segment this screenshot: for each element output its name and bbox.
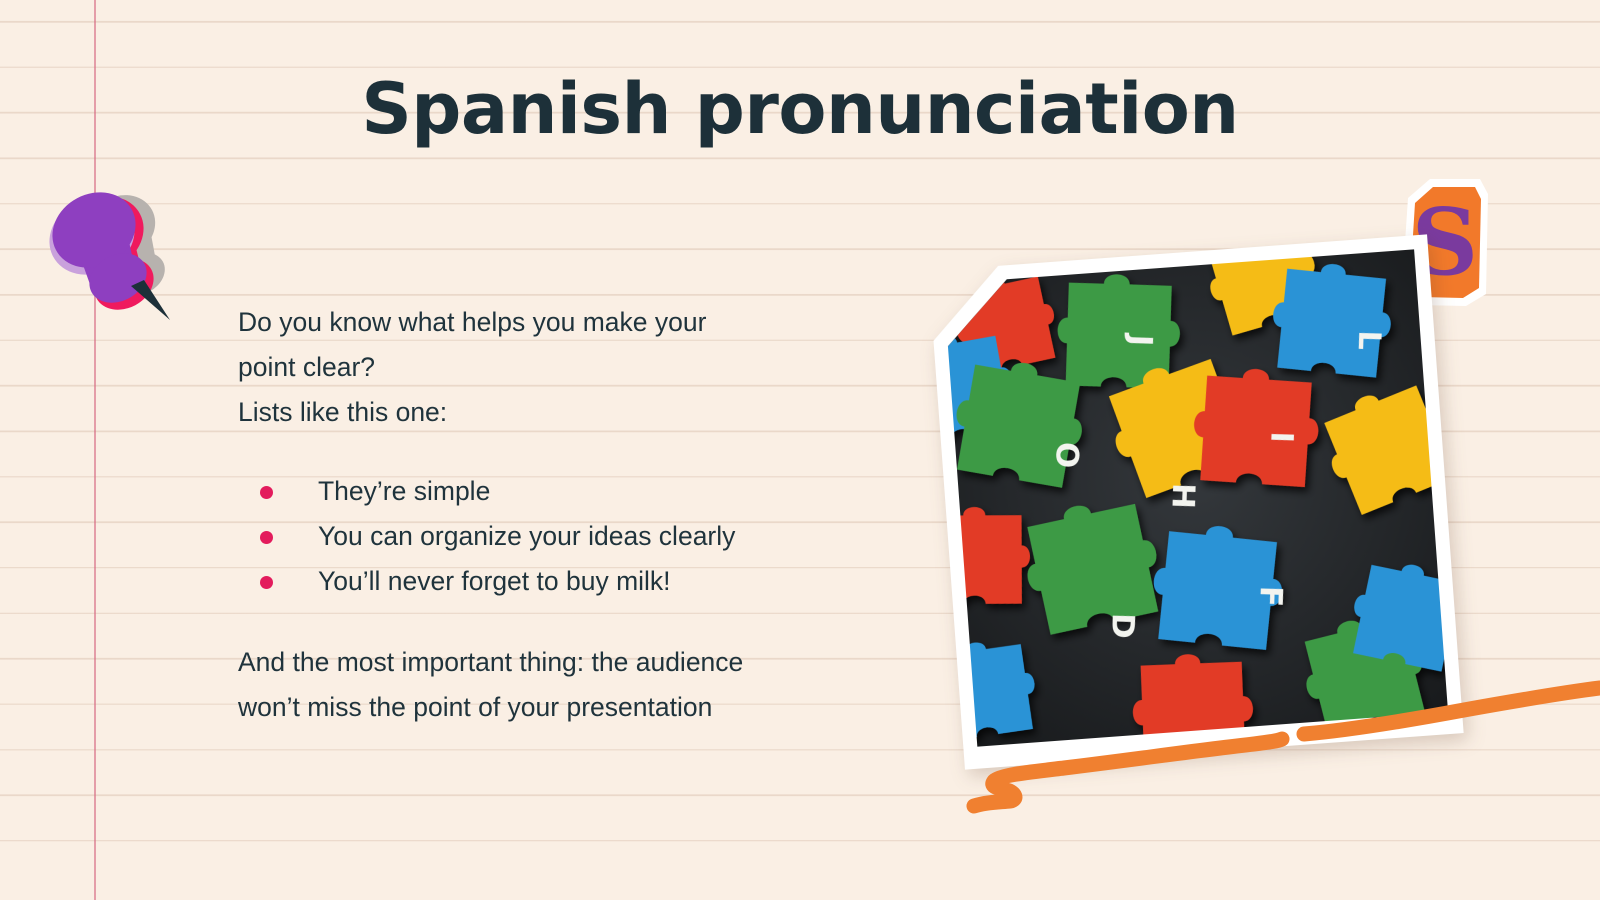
benefits-list: They’re simple You can organize your ide…: [238, 469, 898, 604]
svg-text:I: I: [1263, 431, 1299, 444]
orange-marker-scribble: [960, 672, 1600, 822]
closing-line-1: And the most important thing: the audien…: [238, 640, 898, 685]
svg-text:L: L: [1351, 330, 1388, 351]
slide-title: Spanish pronunciation: [0, 74, 1600, 144]
list-item: You’ll never forget to buy milk!: [238, 559, 898, 604]
bullet-dot-icon: [260, 486, 273, 499]
list-item-label: They’re simple: [318, 476, 490, 506]
list-item: You can organize your ideas clearly: [238, 514, 898, 559]
slide-canvas: Spanish pronunciation: [0, 0, 1600, 900]
svg-text:O: O: [1048, 441, 1085, 468]
list-item: They’re simple: [238, 469, 898, 514]
intro-line-3: Lists like this one:: [238, 390, 898, 435]
svg-text:F: F: [1252, 585, 1289, 607]
svg-text:H: H: [1164, 482, 1201, 509]
intro-line-1: Do you know what helps you make your: [238, 300, 898, 345]
body-text-block: Do you know what helps you make your poi…: [238, 300, 898, 730]
list-item-label: You’ll never forget to buy milk!: [318, 566, 671, 596]
intro-line-2: point clear?: [238, 345, 898, 390]
svg-text:J: J: [1122, 332, 1158, 347]
bullet-dot-icon: [260, 576, 273, 589]
bullet-dot-icon: [260, 531, 273, 544]
svg-text:D: D: [1104, 613, 1141, 640]
closing-line-2: won’t miss the point of your presentatio…: [238, 685, 898, 730]
list-item-label: You can organize your ideas clearly: [318, 521, 735, 551]
pushpin-icon: [30, 168, 200, 328]
